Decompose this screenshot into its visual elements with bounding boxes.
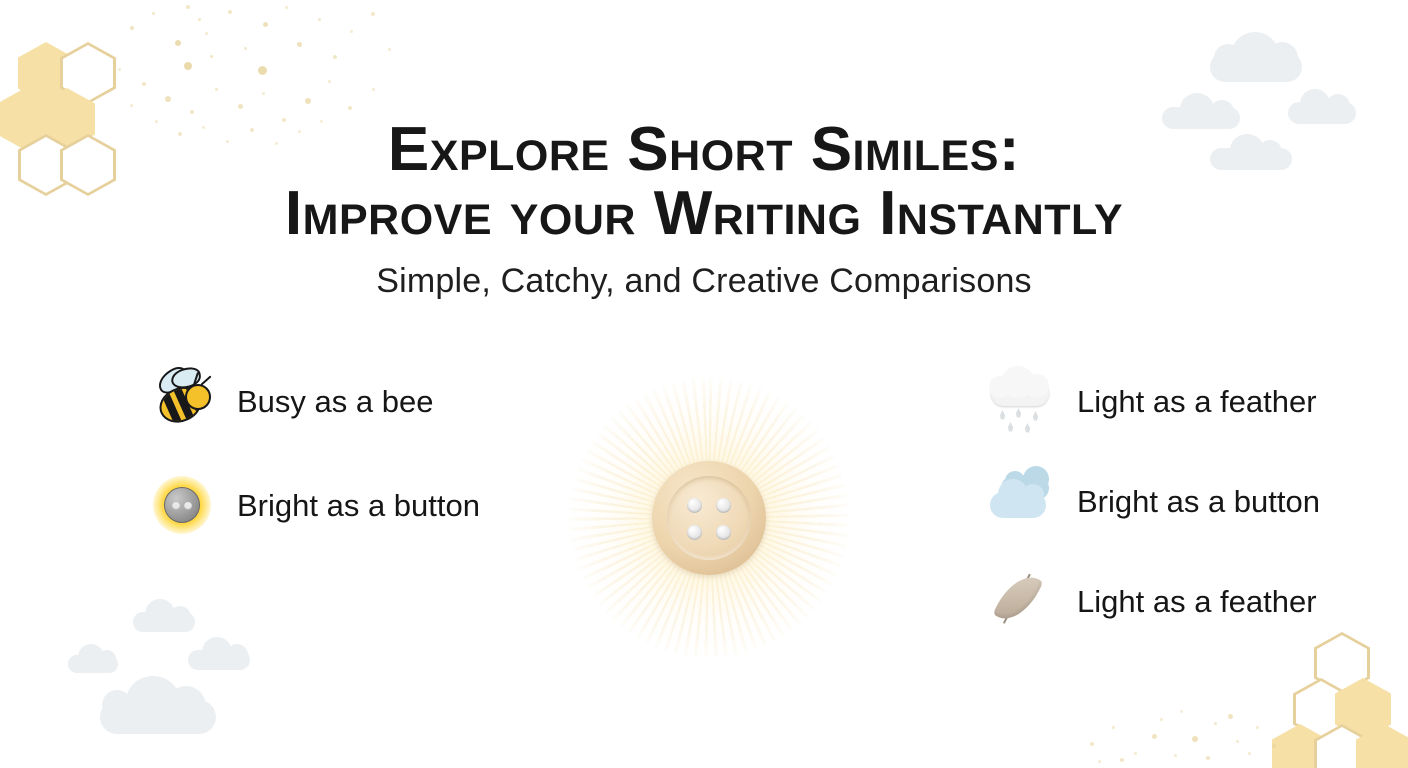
button-glow (153, 476, 211, 534)
hexagon-icon (1335, 678, 1391, 740)
blue-cloud-icon (985, 466, 1059, 538)
list-item-label: Bright as a button (1077, 484, 1320, 520)
cloud-bottom-left-3 (188, 650, 250, 670)
cloud-bottom-left-4 (100, 700, 216, 734)
list-item[interactable]: Light as a feather (985, 366, 1320, 438)
list-item-label: Busy as a bee (237, 384, 433, 420)
title-block: Explore Short Similes: Improve your Writ… (0, 118, 1408, 301)
bee-head (185, 384, 211, 410)
list-item-label: Light as a feather (1077, 384, 1317, 420)
big-button-face (652, 461, 766, 575)
hexagon-icon (1314, 632, 1370, 694)
bee-icon (145, 366, 219, 438)
button-face (164, 487, 200, 523)
list-item-label: Bright as a button (237, 488, 480, 524)
page-title-line-2: Improve your Writing Instantly (0, 182, 1408, 246)
cloud-bottom-left-2 (68, 655, 118, 673)
feather-icon (985, 566, 1059, 638)
list-item[interactable]: Bright as a button (985, 466, 1320, 538)
big-button-inner (667, 476, 751, 560)
cloud-front (990, 492, 1046, 518)
simile-list-right: Light as a feather Bright as a button Li (985, 366, 1320, 670)
list-item[interactable]: Light as a feather (985, 566, 1320, 638)
list-item[interactable]: Bright as a button (145, 470, 480, 542)
list-item-label: Light as a feather (1077, 584, 1317, 620)
hexagon-icon (60, 42, 116, 104)
hexagon-icon (1272, 724, 1328, 768)
page-subtitle: Simple, Catchy, and Creative Comparisons (0, 262, 1408, 301)
glowing-button-icon (145, 470, 219, 542)
hexagon-icon (1356, 724, 1408, 768)
feather-vane (993, 568, 1044, 628)
page-title-line-1: Explore Short Similes: (0, 118, 1408, 182)
simile-list-left: Busy as a bee Bright as a button (145, 366, 480, 574)
slide-canvas: Explore Short Similes: Improve your Writ… (0, 0, 1408, 768)
hexagon-icon (18, 42, 74, 104)
list-item[interactable]: Busy as a bee (145, 366, 480, 438)
cloud-top-right-1 (1210, 52, 1302, 82)
rain-cloud-icon (985, 366, 1059, 438)
hexagon-icon (1293, 678, 1349, 740)
hexagon-icon (1314, 724, 1370, 768)
cloud-bottom-left-1 (133, 612, 195, 632)
